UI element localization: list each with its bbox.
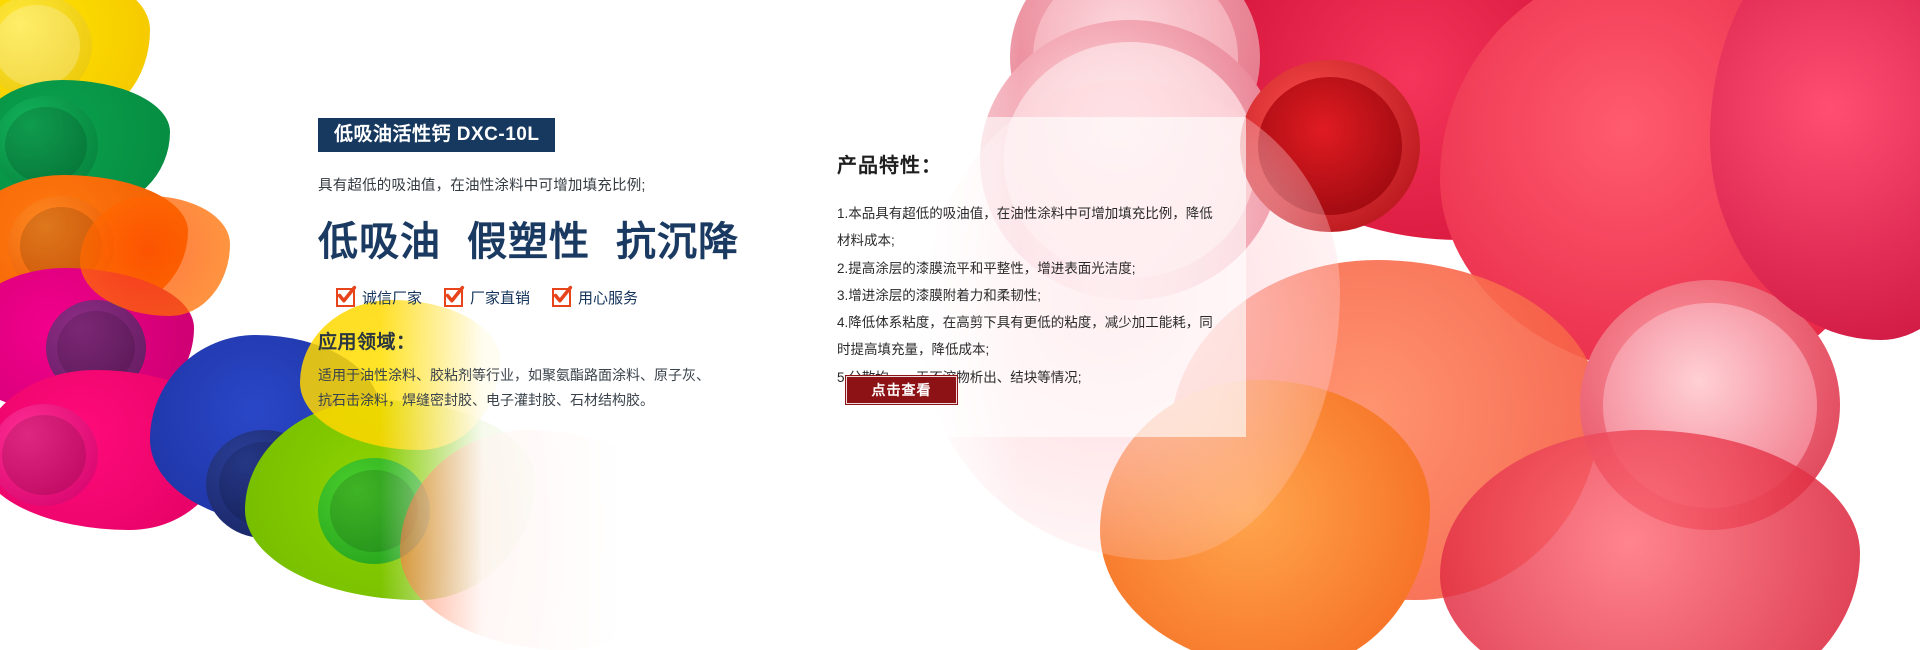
headline-word-1: 低吸油: [318, 219, 441, 264]
headline-word-2: 假塑性: [467, 219, 590, 264]
application-section-title: 应用领域：: [318, 327, 738, 354]
checkbox-check-icon: [552, 288, 571, 307]
trust-badge-2-label: 厂家直销: [470, 287, 530, 308]
paint-stroke-teal: [80, 196, 230, 316]
feature-item-4: 4.降低体系粘度，在高剪下具有更低的粘度，减少加工能耗，同时提高填充量，降低成本…: [837, 309, 1216, 364]
trust-badges-row: 诚信厂家 厂家直销 用心服务: [318, 287, 738, 308]
trust-badge-3: 用心服务: [552, 287, 638, 308]
checkbox-check-icon: [444, 288, 463, 307]
trust-badge-3-label: 用心服务: [578, 287, 638, 308]
application-section-body: 适用于油性涂料、胶粘剂等行业，如聚氨酯路面涂料、原子灰、抗石击涂料，焊缝密封胶、…: [318, 363, 718, 412]
features-list: 1.本品具有超低的吸油值，在油性涂料中可增加填充比例，降低材料成本; 2.提高涂…: [837, 200, 1216, 391]
trust-badge-2: 厂家直销: [444, 287, 530, 308]
feature-item-2: 2.提高涂层的漆膜流平和平整性，增进表面光洁度;: [837, 255, 1216, 282]
headline-word-3: 抗沉降: [616, 219, 739, 264]
feature-item-1: 1.本品具有超低的吸油值，在油性涂料中可增加填充比例，降低材料成本;: [837, 200, 1216, 255]
checkbox-check-icon: [336, 288, 355, 307]
features-panel-title: 产品特性：: [837, 149, 1216, 178]
view-details-button[interactable]: 点击查看: [845, 375, 958, 405]
view-details-button-label: 点击查看: [872, 380, 932, 400]
trust-badge-1: 诚信厂家: [336, 287, 422, 308]
left-content-column: 低吸油活性钙 DXC-10L 具有超低的吸油值，在油性涂料中可增加填充比例; 低…: [318, 118, 738, 412]
product-title-badge: 低吸油活性钙 DXC-10L: [318, 118, 555, 152]
trust-badge-1-label: 诚信厂家: [362, 287, 422, 308]
product-subtitle: 具有超低的吸油值，在油性涂料中可增加填充比例;: [318, 174, 738, 195]
headline-keywords: 低吸油假塑性抗沉降: [318, 209, 738, 267]
product-hero-banner: 低吸油活性钙 DXC-10L 具有超低的吸油值，在油性涂料中可增加填充比例; 低…: [0, 0, 1920, 650]
feature-item-3: 3.增进涂层的漆膜附着力和柔韧性;: [837, 282, 1216, 309]
